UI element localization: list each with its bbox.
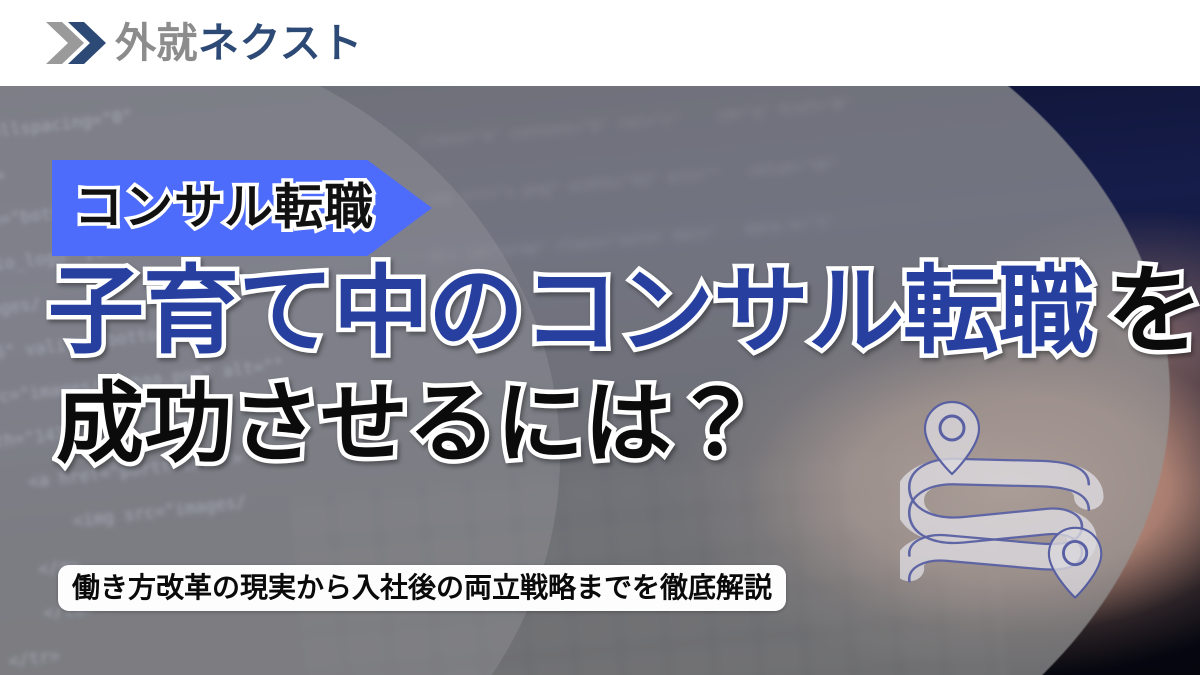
category-badge-label: コンサル転職 [74, 183, 374, 232]
hero-banner: 423" cellspacing="0" </tr> valign="botto… [0, 0, 1200, 675]
title-line-2: 成功させるには？ [48, 379, 1198, 470]
logo-text-gray: 外就 [115, 23, 198, 64]
logo-text-navy: ネクスト [198, 23, 363, 64]
double-chevron-icon [46, 20, 108, 66]
title-suffix: を [1107, 255, 1200, 367]
page-title: 子育て中のコンサル転職を 成功させるには？ [48, 262, 1198, 470]
title-line-1: 子育て中のコンサル転職を [48, 262, 1198, 361]
site-logo[interactable]: 外就ネクスト [46, 20, 363, 66]
subtitle-text: 働き方改革の現実から入社後の両立戦略までを徹底解説 [72, 574, 772, 602]
map-pin-icon [1049, 528, 1101, 598]
site-logo-text: 外就ネクスト [115, 23, 363, 64]
category-badge[interactable]: コンサル転職 [52, 160, 432, 256]
subtitle-pill: 働き方改革の現実から入社後の両立戦略までを徹底解説 [58, 565, 786, 611]
title-highlight: 子育て中のコンサル転職 [48, 255, 1093, 367]
site-header: 外就ネクスト [0, 0, 1200, 86]
